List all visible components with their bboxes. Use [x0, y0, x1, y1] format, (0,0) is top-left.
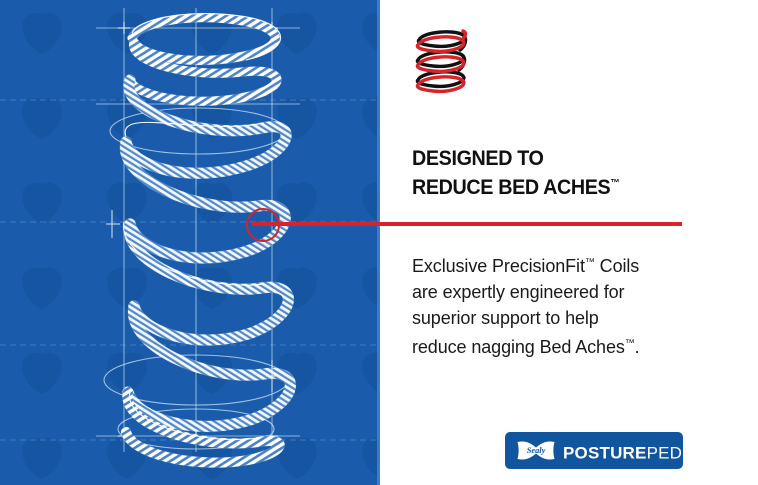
- coil-highlight-circle: [246, 208, 280, 242]
- body-line-2: are expertly engineered for: [412, 279, 742, 305]
- logo-word-light: PEDIC: [647, 444, 700, 463]
- posturepedic-logo: Sealy POSTUREPEDIC®: [505, 432, 683, 469]
- body-line-1: Exclusive PrecisionFit™ Coils: [412, 250, 742, 279]
- logo-registered-mark: ®: [700, 447, 705, 454]
- content-panel: DESIGNED TO REDUCE BED ACHES™ Exclusive …: [380, 0, 758, 485]
- infographic-card: DESIGNED TO REDUCE BED ACHES™ Exclusive …: [0, 0, 758, 485]
- sealy-bowtie-icon: Sealy: [516, 439, 556, 462]
- body-line-1-a: Exclusive PrecisionFit: [412, 256, 585, 276]
- precisionfit-trademark: ™: [585, 257, 595, 268]
- body-line-4-a: reduce nagging Bed Aches: [412, 337, 625, 357]
- headline-line-2-text: REDUCE BED ACHES: [412, 176, 610, 199]
- headline-line-1: DESIGNED TO: [412, 146, 722, 171]
- body-line-3: superior support to help: [412, 305, 742, 331]
- blueprint-panel: [0, 0, 380, 485]
- logo-word-bold: POSTURE: [563, 444, 647, 463]
- sealy-wordmark: Sealy: [527, 446, 546, 455]
- body-line-4: reduce nagging Bed Aches™.: [412, 331, 742, 360]
- body-line-1-b: Coils: [595, 256, 639, 276]
- headline-line-2: REDUCE BED ACHES™: [412, 171, 722, 200]
- posturepedic-wordmark: POSTUREPEDIC®: [563, 441, 705, 463]
- callout-leader-line: [252, 222, 682, 226]
- coil-spring-blueprint-drawing: [0, 0, 380, 485]
- coil-spring-icon: [408, 26, 478, 96]
- headline-trademark: ™: [610, 178, 619, 189]
- bed-aches-trademark: ™: [625, 338, 635, 349]
- page-title: DESIGNED TO REDUCE BED ACHES™: [412, 146, 722, 200]
- body-copy: Exclusive PrecisionFit™ Coils are expert…: [412, 250, 742, 360]
- body-line-4-b: .: [635, 337, 640, 357]
